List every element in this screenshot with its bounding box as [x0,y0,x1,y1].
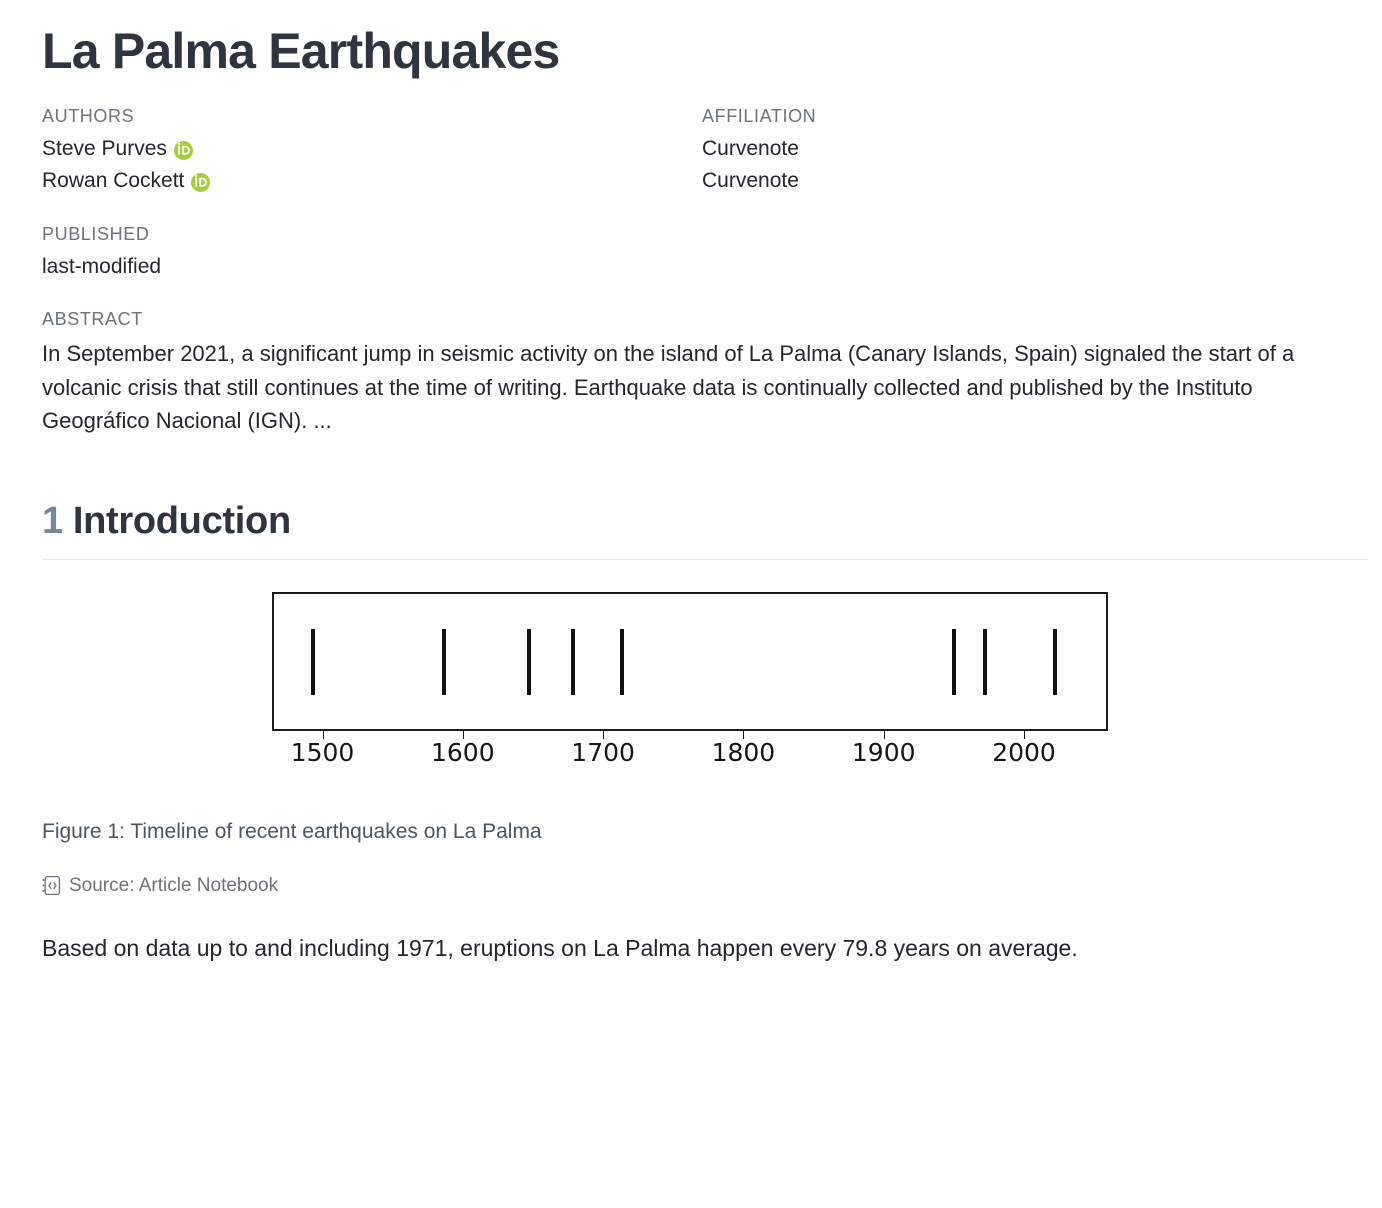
author-name: Steve Purves [42,134,167,164]
authors-label: AUTHORS [42,103,702,130]
x-axis-tick-label: 1700 [571,740,635,765]
figure-source-label[interactable]: Source: Article Notebook [69,875,278,897]
affiliation-label: AFFILIATION [702,103,1342,130]
page-title: La Palma Earthquakes [42,0,1342,81]
event-mark [527,629,531,695]
figure-1: 150016001700180019002000 Figure 1: Timel… [42,560,1342,896]
published-block: PUBLISHED last-modified [42,221,1342,282]
event-mark [983,629,987,695]
figure-source[interactable]: Source: Article Notebook [42,875,1342,897]
affiliation-value: Curvenote [702,134,1342,164]
affiliation-block: AFFILIATION Curvenote Curvenote [702,103,1342,199]
body-paragraph: Based on data up to and including 1971, … [42,931,1312,967]
event-mark [952,629,956,695]
document-page: La Palma Earthquakes AUTHORS Steve Purve… [0,0,1382,1208]
x-axis-tick-label: 1800 [712,740,776,765]
author-entry: Rowan Cockett [42,166,702,196]
event-mark [1053,629,1057,695]
author-entry: Steve Purves [42,134,702,164]
x-axis-tick-label: 1900 [852,740,916,765]
published-label: PUBLISHED [42,221,1342,248]
event-mark [620,629,624,695]
published-value: last-modified [42,252,1342,282]
x-axis-tick-label: 2000 [992,740,1056,765]
plot-frame [272,592,1108,731]
section-title: Introduction [73,500,291,542]
notebook-code-icon [42,875,61,896]
frontmatter: AUTHORS Steve Purves Rowan Cockett [42,103,1342,199]
event-mark [442,629,446,695]
orcid-id-icon[interactable] [174,141,193,160]
x-axis: 150016001700180019002000 [272,731,1108,781]
x-axis-tick-label: 1500 [291,740,355,765]
event-mark [311,629,315,695]
author-name: Rowan Cockett [42,166,184,196]
abstract-label: ABSTRACT [42,306,1342,333]
x-axis-tick-label: 1600 [431,740,495,765]
section-number: 1 [42,500,63,542]
timeline-plot: 150016001700180019002000 [272,592,1112,781]
affiliation-value: Curvenote [702,166,1342,196]
event-mark [571,629,575,695]
abstract-text: In September 2021, a significant jump in… [42,337,1342,437]
authors-block: AUTHORS Steve Purves Rowan Cockett [42,103,702,199]
section-heading: 1Introduction [42,498,1342,546]
figure-caption: Figure 1: Timeline of recent earthquakes… [42,817,1342,846]
abstract-block: ABSTRACT In September 2021, a significan… [42,306,1342,437]
orcid-id-icon[interactable] [191,173,210,192]
